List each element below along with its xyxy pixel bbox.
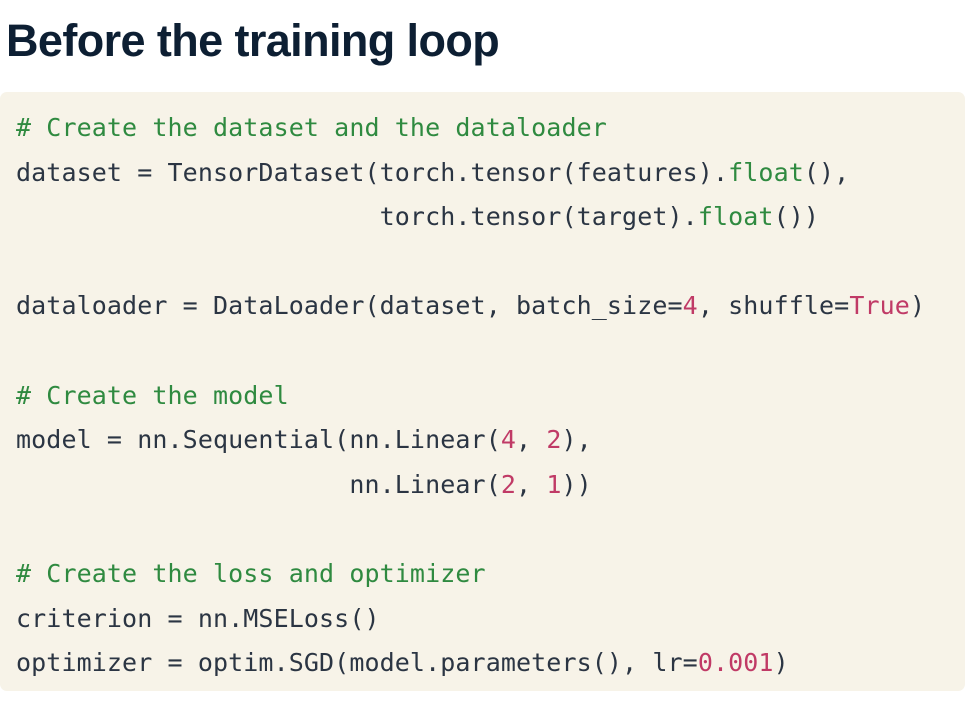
code-line: model = nn.Sequential(nn.Linear(4, 2), [0,418,965,463]
code-line: # Create the loss and optimizer [0,552,965,597]
code-token-plain: , shuffle= [698,291,850,320]
code-line [0,329,965,374]
code-token-plain: ()) [774,202,819,231]
code-token-number: 2 [501,470,516,499]
code-token-plain: dataset = TensorDataset(torch.tensor(fea… [16,158,728,187]
code-token-plain: model = nn.Sequential(nn.Linear( [16,425,501,454]
code-line: optimizer = optim.SGD(model.parameters()… [0,641,965,686]
code-token-number: 4 [683,291,698,320]
code-line: nn.Linear(2, 1)) [0,463,965,508]
code-line: # Create the dataset and the dataloader [0,106,965,151]
code-line: dataset = TensorDataset(torch.tensor(fea… [0,151,965,196]
code-token-plain: ) [774,648,789,677]
code-token-plain: )) [561,470,591,499]
code-token-plain: ), [561,425,591,454]
code-token-method: float [728,158,804,187]
code-token-const: True [849,291,910,320]
code-token-plain: torch.tensor(target). [16,202,698,231]
code-block: # Create the dataset and the dataloaderd… [0,92,965,691]
code-token-comment: # Create the loss and optimizer [16,559,486,588]
code-token-number: 4 [501,425,516,454]
code-token-comment: # Create the model [16,381,289,410]
code-token-plain: , [516,425,546,454]
code-token-number: 2 [546,425,561,454]
code-token-number: 0.001 [698,648,774,677]
code-token-method: float [698,202,774,231]
code-line: # Create the model [0,374,965,419]
code-token-plain: , [516,470,546,499]
code-token-plain: nn.Linear( [16,470,501,499]
code-line: dataloader = DataLoader(dataset, batch_s… [0,284,965,329]
code-token-plain: dataloader = DataLoader(dataset, batch_s… [16,291,683,320]
code-line [0,507,965,552]
code-lines-container: # Create the dataset and the dataloaderd… [0,106,965,686]
code-line: torch.tensor(target).float()) [0,195,965,240]
code-token-comment: # Create the dataset and the dataloader [16,113,607,142]
code-token-plain: optimizer = optim.SGD(model.parameters()… [16,648,698,677]
code-line [0,240,965,285]
code-token-number: 1 [546,470,561,499]
slide-root: Before the training loop # Create the da… [0,0,965,701]
code-token-plain: (), [804,158,849,187]
code-line: criterion = nn.MSELoss() [0,597,965,642]
page-title: Before the training loop [6,12,499,70]
code-token-plain: ) [910,291,925,320]
code-token-plain: criterion = nn.MSELoss() [16,604,380,633]
